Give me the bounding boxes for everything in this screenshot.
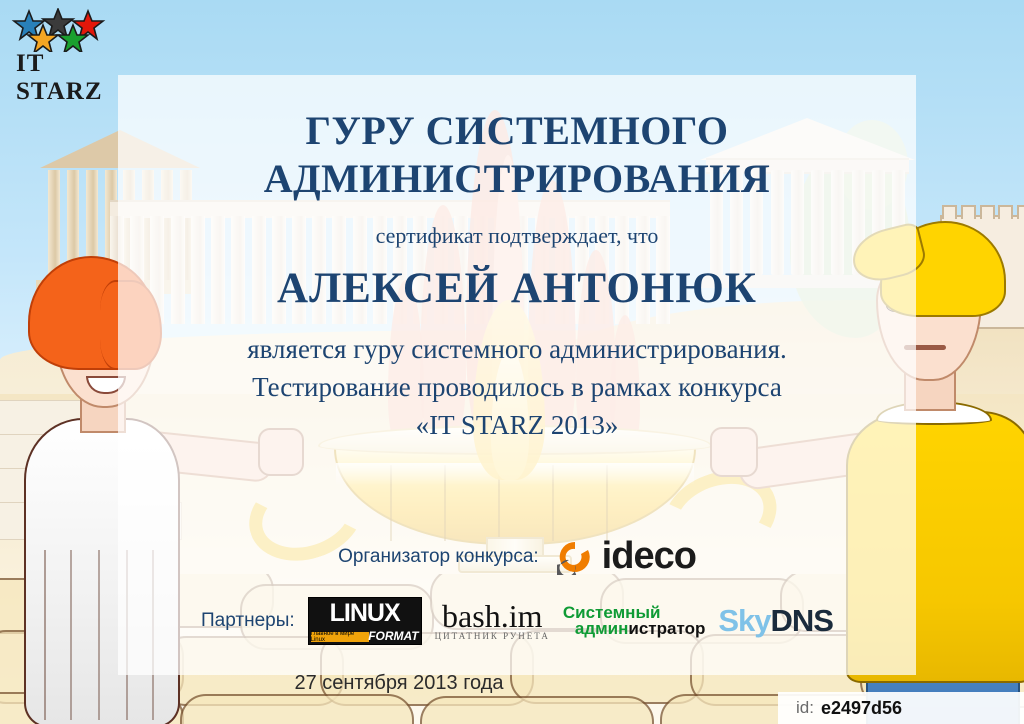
sysadmin-line-2: администратор (575, 621, 706, 637)
organizer-row: Организатор конкурса: ideco (118, 535, 916, 578)
certificate-subtitle: сертификат подтверждает, что (118, 223, 916, 249)
partners-row: Партнеры: LINUX Главное в мире Linux FOR… (118, 597, 916, 645)
bash-im-word: bash.im (442, 601, 542, 631)
partners-label: Партнеры: (201, 610, 295, 632)
recipient-name: АЛЕКСЕЙ АНТОНЮК (118, 264, 916, 313)
certificate-id-box: id: e2497d56 (778, 692, 1024, 724)
title-line-2: АДМИНИСТРИРОВАНИЯ (118, 155, 916, 203)
linux-format-logo[interactable]: LINUX Главное в мире Linux FORMAT (308, 597, 422, 645)
sysadmin-line-2-black: истратор (628, 619, 705, 638)
linux-format-tagline: Главное в мире Linux (311, 632, 369, 642)
certificate-content: ГУРУ СИСТЕМНОГО АДМИНИСТРИРОВАНИЯ сертиф… (118, 75, 916, 675)
it-starz-logo: IT STARZ (10, 8, 120, 83)
certificate-date: 27 сентября 2013 года (0, 672, 798, 695)
body-line-3: «IT STARZ 2013» (118, 406, 916, 444)
skydns-part-1: Sky (718, 603, 770, 638)
linux-format-suffix: FORMAT (368, 629, 418, 643)
brand-name: IT STARZ (16, 50, 120, 106)
body-line-2: Тестирование проводилось в рамках конкур… (118, 368, 916, 406)
page-title: ГУРУ СИСТЕМНОГО АДМИНИСТРИРОВАНИЯ (118, 107, 916, 203)
title-line-1: ГУРУ СИСТЕМНОГО (118, 107, 916, 155)
bash-im-tagline: ЦИТАТНИК РУНЕТА (435, 631, 550, 641)
ideco-logo[interactable]: ideco (557, 535, 696, 578)
organizer-label: Организатор конкурса: (338, 546, 539, 568)
skydns-part-2: DNS (771, 603, 833, 638)
skydns-logo[interactable]: SkyDNS (718, 603, 833, 639)
bash-im-logo[interactable]: bash.im ЦИТАТНИК РУНЕТА (435, 601, 550, 641)
id-value: e2497d56 (821, 698, 902, 719)
body-line-1: является гуру системного администрирован… (118, 330, 916, 368)
stars-icon (10, 8, 118, 50)
linux-format-word: LINUX (309, 598, 421, 629)
ideco-wordmark: ideco (602, 535, 696, 578)
certificate-canvas: IT STARZ ГУРУ СИСТЕМНОГО АДМИНИСТРИРОВАН… (0, 0, 1024, 724)
sysadmin-logo[interactable]: Системный администратор (563, 605, 706, 637)
id-label: id: (796, 698, 814, 718)
sysadmin-line-2-green: админ (575, 619, 629, 638)
ideco-swoosh-icon (557, 539, 593, 575)
certificate-body: является гуру системного администрирован… (118, 330, 916, 444)
